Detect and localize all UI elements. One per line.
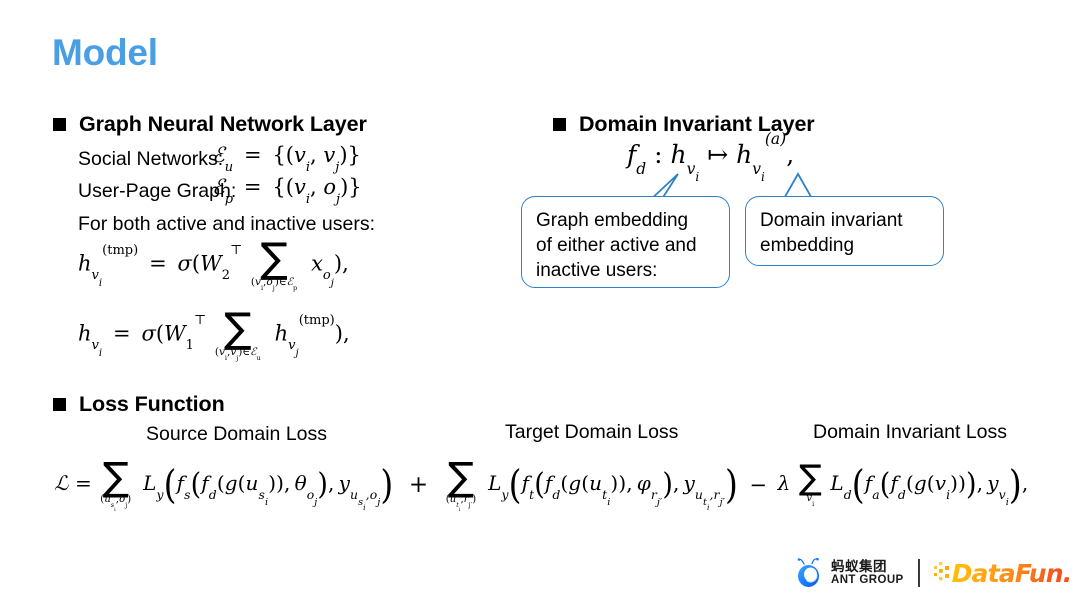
label-social-networks: Social Networks: <box>78 148 223 171</box>
callout-domain-invariant-embedding: Domain invariant embedding <box>745 196 944 266</box>
label-for-both-users: For both active and inactive users: <box>78 213 375 236</box>
summation-icon: ∑ (usi,oj) <box>100 462 131 507</box>
ant-group-logo: 蚂蚁集团 ANT GROUP <box>797 558 904 588</box>
section-heading-loss: Loss Function <box>53 392 225 417</box>
square-bullet-icon <box>553 118 566 131</box>
square-bullet-icon <box>53 118 66 131</box>
equation-social-networks-set: ℰu = {(vi, vj)} <box>212 143 361 167</box>
summation-icon: ∑ (vi,vj)∈ℰu <box>215 312 261 358</box>
label-source-domain-loss: Source Domain Loss <box>146 423 327 446</box>
summation-icon: ∑ vi <box>799 465 822 504</box>
ant-group-chinese: 蚂蚁集团 <box>831 560 904 574</box>
page-title: Model <box>52 32 158 74</box>
section-heading-gnn: Graph Neural Network Layer <box>53 112 367 137</box>
summation-icon: ∑ (uti,rj′) <box>446 462 477 507</box>
operator-plus: + <box>409 472 428 498</box>
datafun-dots-icon <box>934 562 950 584</box>
datafun-wordmark: DataFun. <box>952 559 1072 588</box>
summation-icon: ∑ (vi,oj)∈ℰp <box>251 242 297 288</box>
callout-graph-embedding: Graph embedding of either active and ina… <box>521 196 730 288</box>
ant-group-english: ANT GROUP <box>831 574 904 586</box>
footer-divider <box>918 559 920 587</box>
datafun-logo: DataFun. <box>934 559 1072 588</box>
ant-group-mark-icon <box>797 558 824 588</box>
ant-group-wordmark: 蚂蚁集团 ANT GROUP <box>831 560 904 586</box>
slide-root: Model Graph Neural Network Layer Social … <box>0 0 1080 608</box>
square-bullet-icon <box>53 398 66 411</box>
callout-domain-line2: embedding <box>760 233 930 258</box>
equation-loss-domain-invariant-term: λ ∑ vi Ld(fa(fd(g(vi))), yvi), <box>778 465 1029 504</box>
equation-total-loss: ℒ = ∑ (usi,oj) Ly(fs(fd(g(usi)), θoj), y… <box>54 462 1028 507</box>
section-heading-loss-label: Loss Function <box>79 392 225 417</box>
equation-h-tmp: hvi(tmp) = σ(W2⊤ ∑ (vi,oj)∈ℰp xoj), <box>78 242 349 288</box>
callout-graph-line1: Graph embedding <box>536 208 716 233</box>
section-heading-gnn-label: Graph Neural Network Layer <box>79 112 367 137</box>
equation-domain-invariant-map: fd : hvi ↦ hvi(a), <box>627 140 794 169</box>
equation-user-page-set: ℰp = {(vi, oj)} <box>212 175 362 199</box>
callout-graph-line2: of either active and <box>536 233 716 258</box>
callout-graph-line3: inactive users: <box>536 258 716 283</box>
equation-h-vi: hvi = σ(W1⊤ ∑ (vi,vj)∈ℰu hvj(tmp)), <box>78 312 350 358</box>
label-target-domain-loss: Target Domain Loss <box>505 421 678 444</box>
equation-loss-source-term: ℒ = ∑ (usi,oj) Ly(fs(fd(g(usi)), θoj), y… <box>54 462 393 507</box>
equation-loss-target-term: ∑ (uti,rj′) Ly(ft(fd(g(uti)), φrj′), yut… <box>444 462 738 507</box>
callout-domain-line1: Domain invariant <box>760 208 930 233</box>
footer-logos: 蚂蚁集团 ANT GROUP DataFun. <box>797 558 1071 588</box>
label-domain-invariant-loss: Domain Invariant Loss <box>813 421 1007 444</box>
operator-minus: − <box>749 473 767 497</box>
